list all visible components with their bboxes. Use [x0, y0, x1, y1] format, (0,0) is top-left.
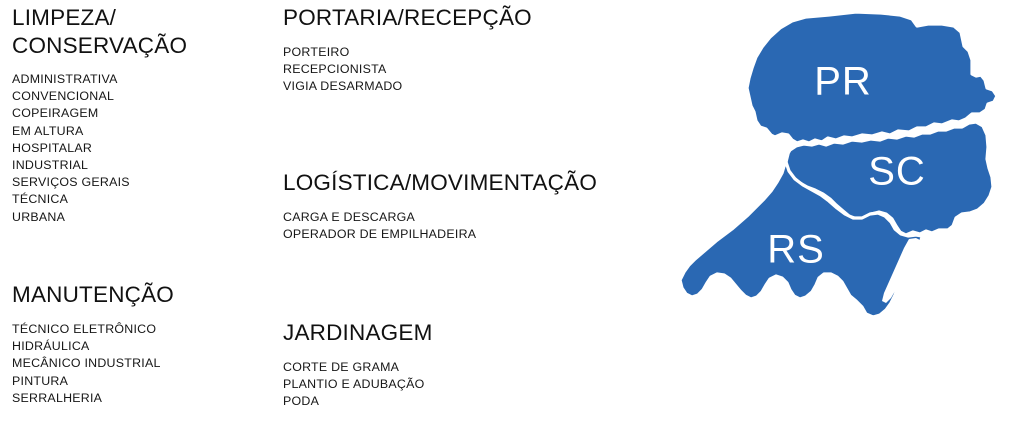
- map-label-sc: SC: [868, 150, 926, 194]
- service-item: PLANTIO E ADUBAÇÃO: [283, 376, 433, 393]
- service-group-logistica-movimentacao: LOGÍSTICA/MOVIMENTAÇÃO CARGA E DESCARGA …: [283, 169, 597, 243]
- map-label-rs: RS: [767, 228, 825, 272]
- service-item: SERVIÇOS GERAIS: [12, 174, 187, 191]
- service-item: ADMINISTRATIVA: [12, 71, 187, 88]
- service-group-title-portaria: PORTARIA/RECEPÇÃO: [283, 4, 532, 32]
- service-group-manutencao: MANUTENÇÃO TÉCNICO ELETRÔNICO HIDRÁULICA…: [12, 281, 174, 407]
- service-item: RECEPCIONISTA: [283, 61, 532, 78]
- map-svg: PR SC RS: [676, 2, 1024, 433]
- service-group-portaria-recepcao: PORTARIA/RECEPÇÃO PORTEIRO RECEPCIONISTA…: [283, 4, 532, 96]
- service-item: HOSPITALAR: [12, 140, 187, 157]
- service-list-jardinagem: CORTE DE GRAMA PLANTIO E ADUBAÇÃO PODA: [283, 359, 433, 411]
- service-item: PORTEIRO: [283, 44, 532, 61]
- service-item: OPERADOR DE EMPILHADEIRA: [283, 226, 597, 243]
- service-item: INDUSTRIAL: [12, 157, 187, 174]
- southern-brazil-map: PR SC RS: [676, 2, 1024, 433]
- service-list-portaria: PORTEIRO RECEPCIONISTA VIGIA DESARMADO: [283, 44, 532, 96]
- service-list-manutencao: TÉCNICO ELETRÔNICO HIDRÁULICA MECÂNICO I…: [12, 321, 174, 407]
- service-item: EM ALTURA: [12, 123, 187, 140]
- service-group-title-logistica: LOGÍSTICA/MOVIMENTAÇÃO: [283, 169, 597, 197]
- service-item: PINTURA: [12, 373, 174, 390]
- map-state-pr-shape[interactable]: [747, 12, 997, 143]
- service-item: VIGIA DESARMADO: [283, 78, 532, 95]
- service-list-limpeza: ADMINISTRATIVA CONVENCIONAL COPEIRAGEM E…: [12, 71, 187, 226]
- service-list-logistica: CARGA E DESCARGA OPERADOR DE EMPILHADEIR…: [283, 209, 597, 243]
- service-group-title-manutencao: MANUTENÇÃO: [12, 281, 174, 309]
- service-group-limpeza-conservacao: LIMPEZA/ CONSERVAÇÃO ADMINISTRATIVA CONV…: [12, 4, 187, 226]
- service-item: TÉCNICA: [12, 191, 187, 208]
- service-item: COPEIRAGEM: [12, 105, 187, 122]
- service-item: HIDRÁULICA: [12, 338, 174, 355]
- service-group-title-jardinagem: JARDINAGEM: [283, 319, 433, 347]
- service-item: TÉCNICO ELETRÔNICO: [12, 321, 174, 338]
- service-item: CORTE DE GRAMA: [283, 359, 433, 376]
- service-item: PODA: [283, 393, 433, 410]
- service-item: SERRALHERIA: [12, 390, 174, 407]
- map-label-pr: PR: [814, 60, 872, 104]
- service-item: CONVENCIONAL: [12, 88, 187, 105]
- service-item: CARGA E DESCARGA: [283, 209, 597, 226]
- service-group-title-limpeza: LIMPEZA/ CONSERVAÇÃO: [12, 4, 187, 60]
- page-root: LIMPEZA/ CONSERVAÇÃO ADMINISTRATIVA CONV…: [0, 0, 1024, 433]
- service-item: MECÂNICO INDUSTRIAL: [12, 355, 174, 372]
- service-group-jardinagem: JARDINAGEM CORTE DE GRAMA PLANTIO E ADUB…: [283, 319, 433, 411]
- service-item: URBANA: [12, 209, 187, 226]
